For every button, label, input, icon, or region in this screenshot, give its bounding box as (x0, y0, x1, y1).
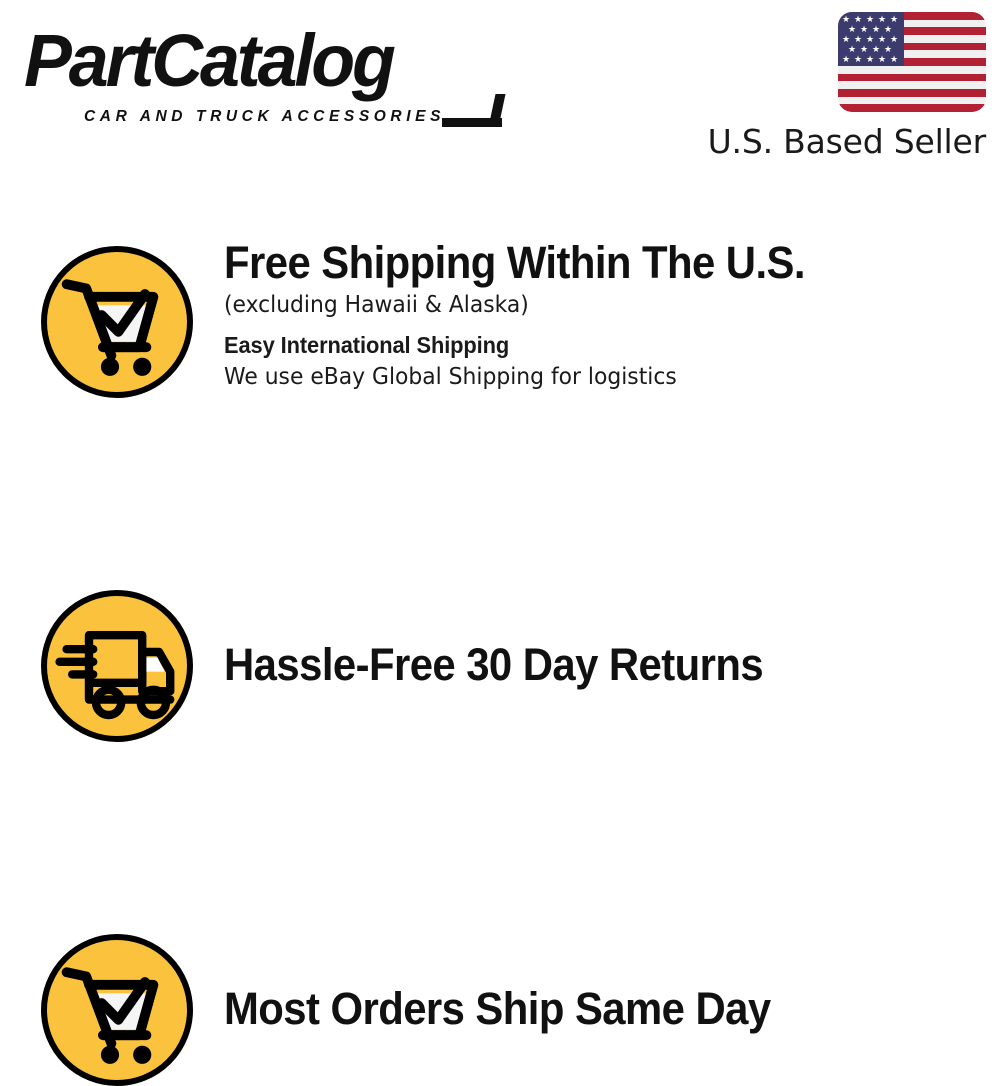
feature-text-block: Hassle-Free 30 Day Returns (224, 639, 994, 691)
flag-canton: ★ ★ ★ ★ ★ ★ ★ ★ ★ ★ ★ ★ ★ ★ ★ ★ ★ ★ ★ ★ (838, 12, 904, 66)
us-flag-icon: ★ ★ ★ ★ ★ ★ ★ ★ ★ ★ ★ ★ ★ ★ ★ ★ ★ ★ ★ ★ (838, 12, 986, 112)
brand-logo[interactable]: PartCatalog CAR AND TRUCK ACCESSORIES (24, 22, 494, 122)
feature-sub-detail: We use eBay Global Shipping for logistic… (224, 361, 956, 393)
brand-wordmark: PartCatalog (24, 22, 393, 100)
feature-headline: Most Orders Ship Same Day (224, 983, 940, 1035)
delivery-truck-icon (41, 590, 193, 742)
feature-text-block: Most Orders Ship Same Day (224, 983, 994, 1035)
feature-headline: Free Shipping Within The U.S. (224, 237, 940, 289)
shopping-cart-check-icon (41, 246, 193, 398)
us-based-seller-label: U.S. Based Seller (706, 123, 986, 161)
brand-tagline: CAR AND TRUCK ACCESSORIES (84, 108, 445, 126)
page-header: PartCatalog CAR AND TRUCK ACCESSORIES ★ … (0, 0, 1000, 180)
feature-text-block: Free Shipping Within The U.S. (excluding… (224, 237, 994, 393)
feature-headline: Hassle-Free 30 Day Returns (224, 639, 940, 691)
logo-tail-cap-decoration (488, 94, 505, 127)
feature-sub-note: (excluding Hawaii & Alaska) (224, 289, 956, 321)
feature-sub-heading: Easy International Shipping (224, 329, 956, 361)
us-based-seller-badge: ★ ★ ★ ★ ★ ★ ★ ★ ★ ★ ★ ★ ★ ★ ★ ★ ★ ★ ★ ★ (706, 12, 986, 161)
shopping-cart-check-icon (41, 934, 193, 1086)
